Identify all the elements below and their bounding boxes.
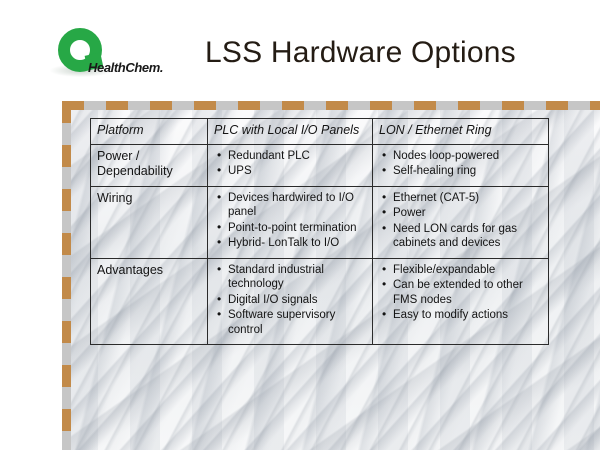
list-item: Devices hardwired to I/O panel (228, 191, 366, 220)
table-header-row: Platform PLC with Local I/O Panels LON /… (91, 119, 549, 145)
frame-left-border (62, 101, 71, 450)
bullet-list: Devices hardwired to I/O panel Point-to-… (214, 191, 366, 251)
column-header-plc: PLC with Local I/O Panels (208, 119, 373, 145)
table-row: Advantages Standard industrial technolog… (91, 258, 549, 344)
list-item: Ethernet (CAT-5) (393, 191, 542, 205)
cell-power-plc: Redundant PLC UPS (208, 144, 373, 186)
list-item: Point-to-point termination (228, 221, 366, 235)
list-item: Need LON cards for gas cabinets and devi… (393, 222, 542, 251)
column-header-lon: LON / Ethernet Ring (373, 119, 549, 145)
list-item: UPS (228, 164, 366, 178)
list-item: Digital I/O signals (228, 293, 366, 307)
cell-power-lon: Nodes loop-powered Self-healing ring (373, 144, 549, 186)
cell-advantages-lon: Flexible/expandable Can be extended to o… (373, 258, 549, 344)
bullet-list: Nodes loop-powered Self-healing ring (379, 149, 542, 179)
bullet-list: Redundant PLC UPS (214, 149, 366, 179)
row-label-wiring: Wiring (91, 187, 208, 259)
row-label-advantages: Advantages (91, 258, 208, 344)
table-row: Wiring Devices hardwired to I/O panel Po… (91, 187, 549, 259)
list-item: Standard industrial technology (228, 263, 366, 292)
list-item: Nodes loop-powered (393, 149, 542, 163)
hardware-options-table: Platform PLC with Local I/O Panels LON /… (90, 118, 549, 345)
brand-logo: HealthChem. (50, 26, 168, 82)
list-item: Power (393, 206, 542, 220)
bullet-list: Flexible/expandable Can be extended to o… (379, 263, 542, 323)
frame-top-border (62, 101, 600, 110)
row-label-power: Power / Dependability (91, 144, 208, 186)
list-item: Software supervisory control (228, 308, 366, 337)
slide-header: HealthChem. LSS Hardware Options (0, 0, 600, 96)
brand-wordmark: HealthChem. (88, 60, 163, 75)
list-item: Redundant PLC (228, 149, 366, 163)
cell-wiring-plc: Devices hardwired to I/O panel Point-to-… (208, 187, 373, 259)
bullet-list: Standard industrial technology Digital I… (214, 263, 366, 337)
cell-wiring-lon: Ethernet (CAT-5) Power Need LON cards fo… (373, 187, 549, 259)
cell-advantages-plc: Standard industrial technology Digital I… (208, 258, 373, 344)
list-item: Self-healing ring (393, 164, 542, 178)
list-item: Flexible/expandable (393, 263, 542, 277)
column-header-platform: Platform (91, 119, 208, 145)
table-row: Power / Dependability Redundant PLC UPS … (91, 144, 549, 186)
page-title: LSS Hardware Options (205, 36, 516, 70)
list-item: Can be extended to other FMS nodes (393, 278, 542, 307)
list-item: Easy to modify actions (393, 308, 542, 322)
bullet-list: Ethernet (CAT-5) Power Need LON cards fo… (379, 191, 542, 251)
list-item: Hybrid- LonTalk to I/O (228, 236, 366, 250)
